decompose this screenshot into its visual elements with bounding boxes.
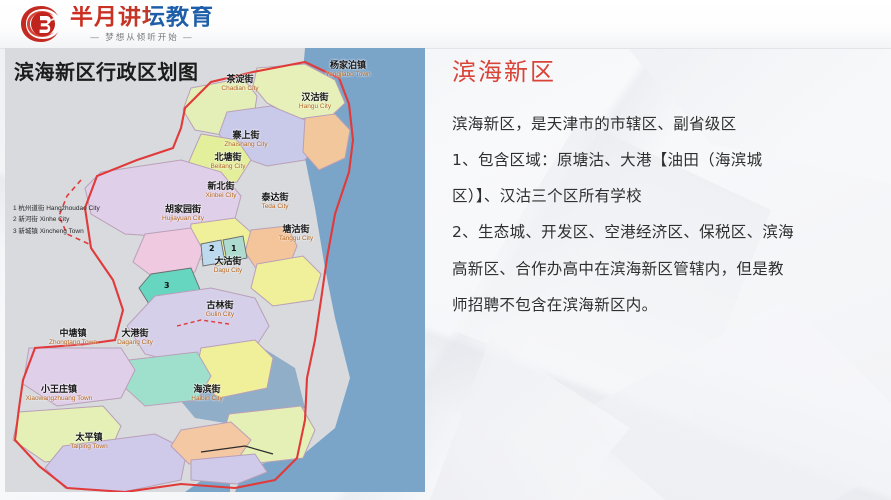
brand-logo: 半月讲坛教育 — 梦想从倾听开始 — [18, 3, 214, 45]
slide-canvas: 半月讲坛教育 — 梦想从倾听开始 — [0, 0, 891, 500]
content-body: 滨海新区，是天津市的市辖区、副省级区 1、包含区域：原塘沽、大港【油田（海滨城 … [452, 111, 876, 319]
content-line-4: 2、生态城、开发区、空港经济区、保税区、滨海 [452, 219, 876, 246]
content-line-2: 1、包含区域：原塘沽、大港【油田（海滨城 [452, 147, 876, 174]
map-marker-2: 2 [209, 244, 215, 253]
content-line-1: 滨海新区，是天津市的市辖区、副省级区 [452, 111, 876, 138]
map-marker-1: 1 [231, 244, 237, 253]
brand-slogan: — 梦想从倾听开始 — [70, 33, 214, 42]
map-title: 滨海新区行政区划图 [14, 56, 199, 85]
background-facet-4 [430, 320, 630, 500]
content-panel: 滨海新区 滨海新区，是天津市的市辖区、副省级区 1、包含区域：原塘沽、大港【油田… [452, 52, 876, 328]
content-line-3: 区）】、汉沽三个区所有学校 [452, 183, 876, 210]
page-title: 滨海新区 [452, 52, 876, 87]
map-legend: 1 杭州道街 Hangzhoudao City 2 新河街 Xinhe City… [13, 203, 100, 237]
legend-item-1: 1 杭州道街 Hangzhoudao City [13, 203, 100, 214]
administrative-map-graphic [5, 48, 425, 492]
brand-name: 半月讲坛教育 [70, 6, 214, 29]
content-line-6: 师招聘不包含在滨海新区内。 [452, 292, 876, 319]
map-marker-3: 3 [164, 281, 170, 290]
background-facet-3 [571, 300, 891, 500]
slide-header: 半月讲坛教育 — 梦想从倾听开始 — [0, 0, 891, 49]
content-line-5: 高新区、合作办高中在滨海新区管辖内，但是教 [452, 256, 876, 283]
legend-item-3: 3 新城镇 Xincheng Town [13, 226, 100, 237]
legend-item-2: 2 新河街 Xinhe City [13, 214, 100, 225]
map-image: 滨海新区行政区划图 1 杭州道街 Hangzhoudao City 2 新河街 … [5, 48, 425, 492]
brand-text: 半月讲坛教育 — 梦想从倾听开始 — [70, 6, 214, 42]
swirl-b-logo-icon [18, 3, 64, 45]
